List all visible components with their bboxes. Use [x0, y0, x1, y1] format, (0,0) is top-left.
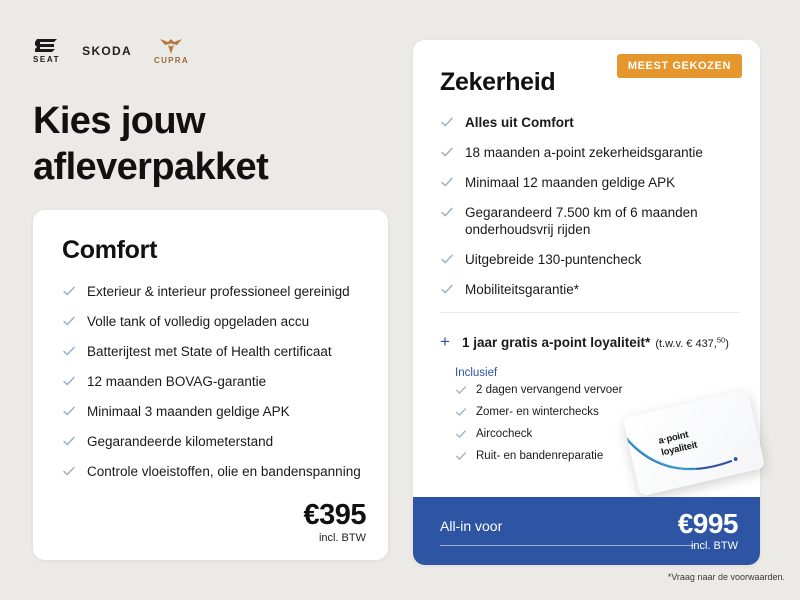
list-item: Uitgebreide 130-puntencheck — [440, 251, 740, 268]
bonus-value-note: (t.w.v. € 437,50) — [655, 338, 729, 350]
plus-icon: + — [440, 333, 452, 350]
list-item: Alles uit Comfort — [440, 114, 740, 131]
comfort-title: Comfort — [62, 236, 157, 265]
list-item-label: Controle vloeistoffen, olie en bandenspa… — [87, 464, 361, 479]
list-item: Controle vloeistoffen, olie en bandenspa… — [62, 463, 367, 480]
list-item: Gegarandeerd 7.500 km of 6 maanden onder… — [440, 204, 740, 238]
list-item-label: Gegarandeerde kilometerstand — [87, 434, 273, 449]
list-item-label: Alles uit Comfort — [465, 115, 574, 130]
bonus-note-sup: 50 — [717, 335, 725, 344]
check-icon — [62, 434, 76, 448]
check-icon — [62, 344, 76, 358]
footer-label: All-in voor — [440, 518, 502, 534]
check-icon — [455, 406, 467, 418]
list-item: Exterieur & interieur professioneel gere… — [62, 283, 367, 300]
list-item-label: 12 maanden BOVAG-garantie — [87, 374, 266, 389]
disclaimer-text: *Vraag naar de voorwaarden. — [668, 572, 785, 582]
check-icon — [440, 282, 454, 296]
list-item-label: Volle tank of volledig opgeladen accu — [87, 314, 309, 329]
skoda-logo: SKODA — [82, 44, 132, 58]
zekerheid-title: Zekerheid — [440, 68, 555, 97]
check-icon — [62, 464, 76, 478]
check-icon — [440, 205, 454, 219]
list-item-label: Zomer- en winterchecks — [476, 406, 599, 418]
check-icon — [455, 450, 467, 462]
check-icon — [62, 314, 76, 328]
footer-rule — [440, 545, 695, 546]
check-icon — [440, 145, 454, 159]
seat-wordmark: SEAT — [33, 55, 60, 64]
check-icon — [440, 252, 454, 266]
bonus-note-suffix: ) — [725, 338, 729, 350]
cupra-mark-icon — [158, 37, 184, 55]
list-item-label: Batterijtest met State of Health certifi… — [87, 344, 332, 359]
list-item: Minimaal 3 maanden geldige APK — [62, 403, 367, 420]
status-badge: MEEST GEKOZEN — [617, 54, 742, 78]
package-card-comfort[interactable]: Comfort Exterieur & interieur profession… — [33, 210, 388, 560]
included-heading: Inclusief — [455, 367, 497, 379]
zekerheid-price: €995 — [678, 509, 738, 539]
list-item-label: Mobiliteitsgarantie* — [465, 282, 579, 297]
list-item-label: 2 dagen vervangend vervoer — [476, 384, 622, 396]
list-item-label: Ruit- en bandenreparatie — [476, 450, 603, 462]
check-icon — [62, 374, 76, 388]
list-item: Volle tank of volledig opgeladen accu — [62, 313, 367, 330]
zekerheid-feature-list: Alles uit Comfort 18 maanden a-point zek… — [440, 114, 740, 311]
check-icon — [62, 404, 76, 418]
zekerheid-price-note: incl. BTW — [678, 540, 738, 552]
page-title: Kies jouw afleverpakket — [33, 98, 363, 190]
bonus-row: + 1 jaar gratis a-point loyaliteit*(t.w.… — [440, 333, 750, 352]
comfort-price-note: incl. BTW — [303, 532, 366, 544]
comfort-price: €395 — [303, 499, 366, 531]
list-item: 18 maanden a-point zekerheidsgarantie — [440, 144, 740, 161]
cupra-logo: CUPRA — [154, 37, 189, 65]
comfort-feature-list: Exterieur & interieur professioneel gere… — [62, 283, 367, 493]
list-item-label: Gegarandeerd 7.500 km of 6 maanden onder… — [465, 205, 698, 237]
list-item-label: Exterieur & interieur professioneel gere… — [87, 284, 350, 299]
check-icon — [440, 175, 454, 189]
list-item-label: Minimaal 3 maanden geldige APK — [87, 404, 290, 419]
list-item: Batterijtest met State of Health certifi… — [62, 343, 367, 360]
bonus-label: 1 jaar gratis a-point loyaliteit* — [462, 335, 650, 350]
check-icon — [455, 428, 467, 440]
list-item-label: Uitgebreide 130-puntencheck — [465, 252, 641, 267]
bonus-note-prefix: (t.w.v. € 437, — [655, 338, 717, 350]
list-item-label: Minimaal 12 maanden geldige APK — [465, 175, 675, 190]
card-divider — [440, 312, 740, 313]
list-item: 2 dagen vervangend vervoer — [455, 383, 685, 397]
cupra-wordmark: CUPRA — [154, 56, 189, 65]
brand-logo-row: SEAT SKODA CUPRA — [33, 36, 189, 66]
comfort-price-block: €395 incl. BTW — [303, 499, 366, 544]
list-item-label: Aircocheck — [476, 428, 532, 440]
seat-mark-icon — [34, 38, 60, 53]
check-icon — [440, 115, 454, 129]
list-item: Minimaal 12 maanden geldige APK — [440, 174, 740, 191]
zekerheid-footer: All-in voor €995 incl. BTW — [413, 497, 760, 565]
list-item-label: 18 maanden a-point zekerheidsgarantie — [465, 145, 703, 160]
list-item: Gegarandeerde kilometerstand — [62, 433, 367, 450]
seat-logo: SEAT — [33, 38, 60, 64]
list-item: 12 maanden BOVAG-garantie — [62, 373, 367, 390]
list-item: Mobiliteitsgarantie* — [440, 281, 740, 298]
check-icon — [62, 284, 76, 298]
check-icon — [455, 384, 467, 396]
package-card-zekerheid[interactable]: MEEST GEKOZEN Zekerheid Alles uit Comfor… — [413, 40, 760, 565]
promo-page: SEAT SKODA CUPRA Kies jouw afleverpakket… — [0, 0, 800, 600]
